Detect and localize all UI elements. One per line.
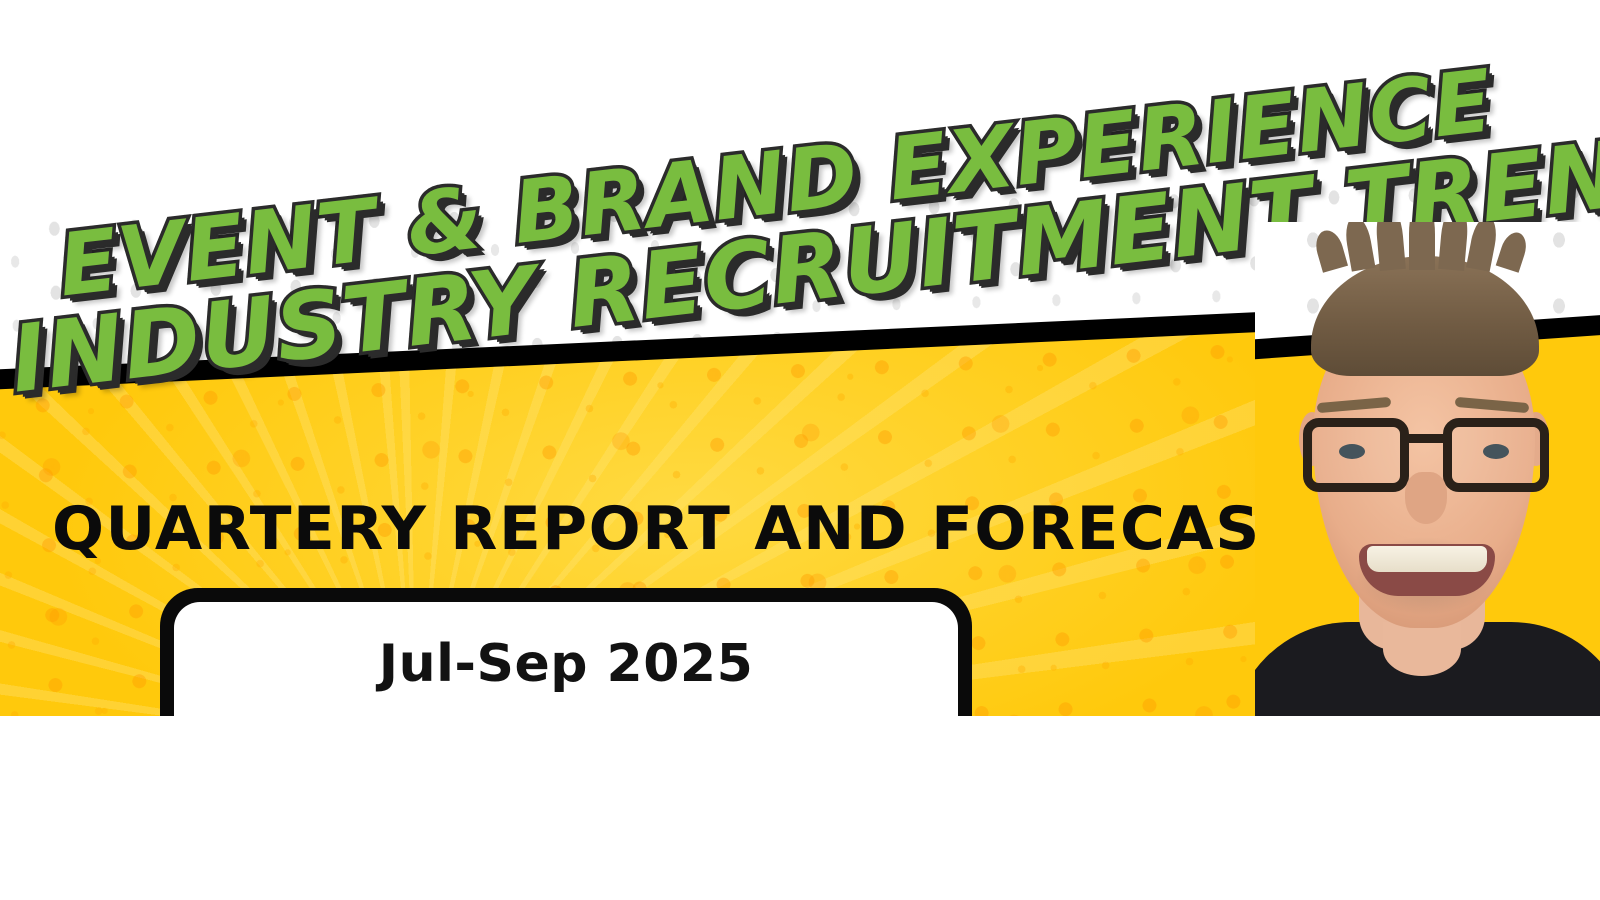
- date-card-inner: Jul-Sep 2025: [174, 602, 958, 716]
- photo-nose: [1405, 472, 1447, 524]
- date-card: Jul-Sep 2025: [160, 588, 972, 716]
- banner-subtitle: QUARTERY REPORT AND FORECAST: [52, 494, 1276, 564]
- page-root: EVENT & BRAND EXPERIENCE INDUSTRY RECRUI…: [0, 0, 1600, 900]
- glasses-lens-right: [1443, 418, 1549, 492]
- date-range-label: Jul-Sep 2025: [174, 634, 958, 694]
- report-banner: EVENT & BRAND EXPERIENCE INDUSTRY RECRUI…: [0, 0, 1600, 716]
- photo-collar: [1383, 622, 1461, 676]
- glasses-lens-left: [1303, 418, 1409, 492]
- photo-teeth: [1367, 546, 1487, 572]
- glasses-bridge: [1407, 434, 1447, 443]
- presenter-photo: [1255, 222, 1600, 716]
